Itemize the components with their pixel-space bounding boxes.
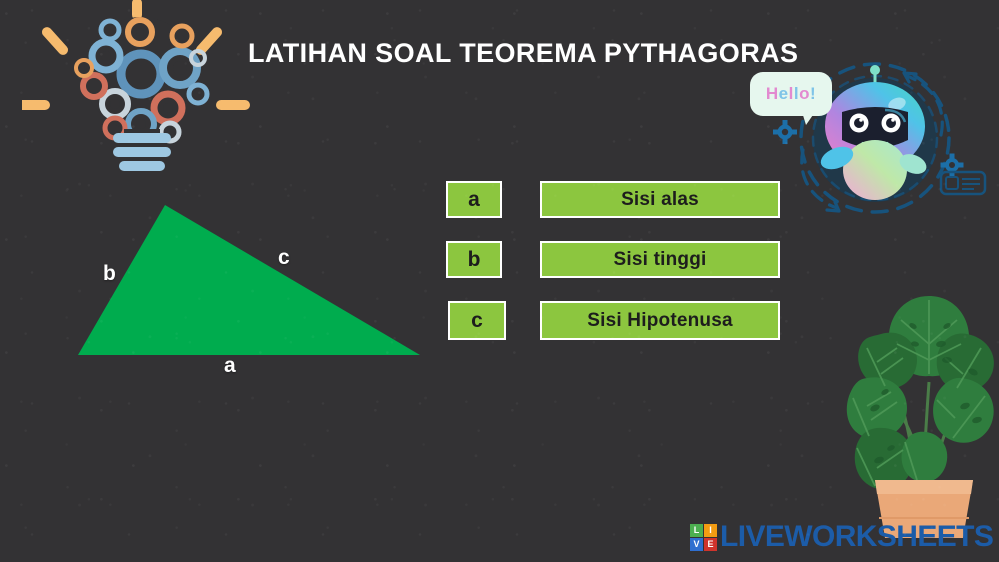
monstera-plant-illustration: [845, 282, 999, 540]
key-box-c[interactable]: c: [448, 301, 506, 340]
gear-lightbulb-icon: [22, 0, 262, 181]
logo-square-i: I: [704, 524, 717, 537]
page-title: LATIHAN SOAL TEOREMA PYTHAGORAS: [248, 38, 798, 69]
hello-letter: H: [766, 84, 779, 103]
triangle-label-a: a: [224, 354, 236, 378]
speech-bubble: Hello!: [750, 72, 832, 116]
answer-box-sisi-tinggi[interactable]: Sisi tinggi: [540, 241, 780, 278]
triangle-label-c: c: [278, 246, 290, 270]
speech-bubble-text: Hello!: [766, 84, 816, 104]
logo-square-l: L: [690, 524, 703, 537]
hello-letter: e: [779, 84, 789, 103]
pythagorean-triangle: b c a: [60, 190, 440, 375]
logo-squares: L I V E: [690, 524, 717, 551]
hello-letter: o: [799, 84, 810, 103]
hello-letter: !: [810, 84, 816, 103]
logo-wordmark: LIVEWORKSHEETS: [720, 520, 993, 554]
liveworksheets-logo: L I V E LIVEWORKSHEETS: [690, 518, 993, 556]
answer-box-sisi-hipotenusa[interactable]: Sisi Hipotenusa: [540, 301, 780, 340]
triangle-label-b: b: [103, 262, 116, 286]
answer-box-sisi-alas[interactable]: Sisi alas: [540, 181, 780, 218]
logo-square-v: V: [690, 538, 703, 551]
key-box-b[interactable]: b: [446, 241, 502, 278]
key-box-a[interactable]: a: [446, 181, 502, 218]
worksheet-canvas: LATIHAN SOAL TEOREMA PYTHAGORAS: [0, 0, 999, 562]
logo-square-e: E: [704, 538, 717, 551]
chat-robot-illustration: Hello!: [745, 60, 999, 215]
